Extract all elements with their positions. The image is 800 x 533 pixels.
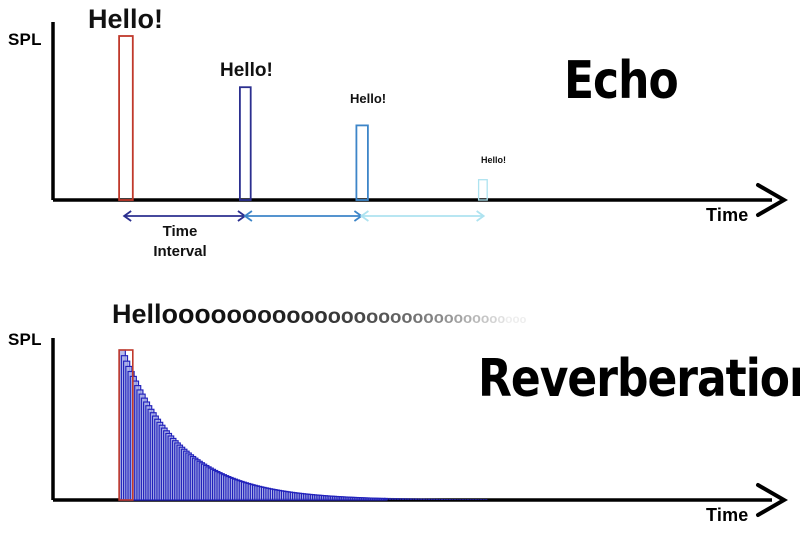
reverb-tail-bar [444,499,446,500]
reverb-tail-bar [418,498,420,500]
reverb-tail-bar [449,499,451,500]
reverb-tail-bar [446,499,448,500]
reverb-tail-bar [475,499,477,500]
reverb-tail-bar [431,499,433,500]
reverb-tail-bar [436,499,438,500]
reverb-tail-bar [480,499,482,500]
reverberation-word-tail: oooooooooooooooooooooooooooooo [178,301,526,329]
reverberation-bar-group [119,350,487,500]
reverberation-word: Hellooooooooooooooooooooooooooooooo [112,301,526,329]
reverb-tail-bar [397,498,399,500]
echo-pulse-group [119,36,487,200]
reverb-tail-bar [394,498,396,500]
echo-pulse-1-label: Hello! [88,4,163,35]
reverb-tail-bar [467,499,469,500]
reverb-tail-bar [405,498,407,500]
reverb-tail-bar [441,499,443,500]
reverb-tail-bar [428,499,430,500]
reverb-tail-bar [407,498,409,500]
reverb-tail-bar [451,499,453,500]
echo-spl-axis-label: SPL [8,30,42,50]
reverb-tail-bar [399,498,401,500]
reverb-tail-bar [477,499,479,500]
reverb-tail-bar [402,498,404,500]
reverb-spl-axis-label: SPL [8,330,42,350]
reverb-tail-bar [472,499,474,500]
interval-arrow-1 [124,211,245,221]
reverb-tail-bar [457,499,459,500]
reverb-tail-bar [454,499,456,500]
echo-pulse-2 [240,87,251,200]
reverb-tail-bar [384,498,386,500]
reverb-tail-bar [415,498,417,500]
reverb-tail-bar [412,498,414,500]
interval-arrow-3 [361,211,483,221]
time-interval-label: Time Interval [125,222,235,263]
reverb-tail-bar [459,499,461,500]
time-interval-line2: Interval [153,243,206,260]
diagram-canvas [0,0,800,533]
diagram-stage: SPL Time Echo Hello! Hello! Hello! Hello… [0,0,800,533]
time-interval-line1: Time [163,223,198,240]
reverb-tail-bar [425,499,427,500]
echo-title: Echo [564,51,678,111]
echo-time-axis-label: Time [706,205,749,226]
reverb-tail-bar [420,499,422,501]
echo-pulse-1 [119,36,133,200]
reverb-tail-bar [389,498,391,500]
reverb-time-axis-label: Time [706,505,749,526]
reverb-tail-bar [462,499,464,500]
reverb-tail-bar [386,498,388,500]
reverb-tail-bar [392,498,394,500]
reverb-tail-bar [423,499,425,500]
reverb-tail-bar [410,498,412,500]
echo-pulse-2-label: Hello! [220,60,273,82]
echo-interval-arrows [124,211,484,221]
echo-pulse-4 [479,180,488,200]
reverb-tail-bar [485,499,487,500]
reverb-tail-bar [464,499,466,500]
interval-arrow-2 [245,211,361,221]
reverb-tail-bar [438,499,440,500]
reverberation-title: Reverberation [478,349,800,409]
reverb-tail-bar [483,499,485,500]
reverb-tail-bar [470,499,472,500]
reverberation-word-head: Hello [112,299,178,329]
echo-pulse-3-label: Hello! [350,91,386,106]
echo-pulse-4-label: Hello! [481,155,506,165]
echo-pulse-3 [356,125,368,200]
reverb-tail-bar [433,499,435,500]
